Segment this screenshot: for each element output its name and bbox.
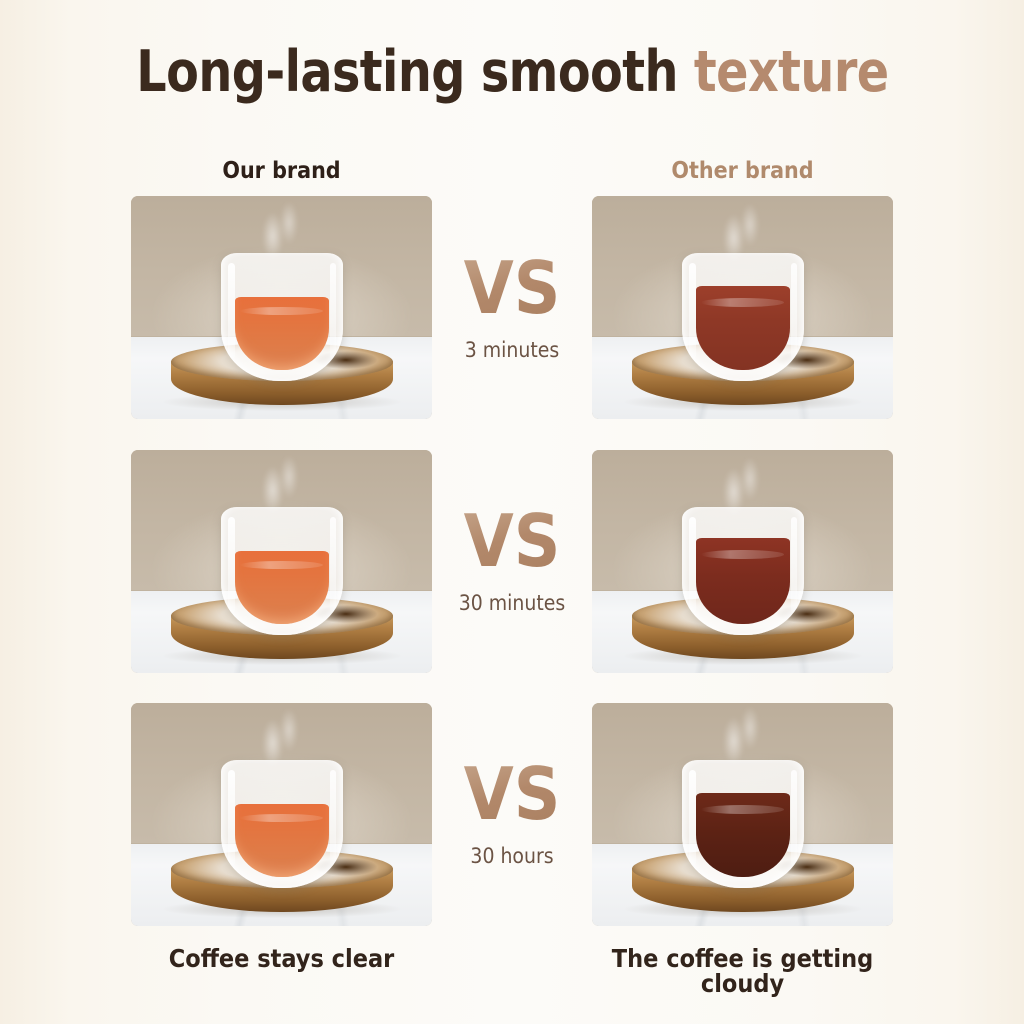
double-wall-glass: [682, 253, 804, 381]
vs-time-label: 30 minutes: [432, 593, 592, 614]
glass-highlight-left: [228, 770, 235, 866]
coffee-photo: [592, 703, 893, 926]
coffee-photo: [131, 450, 432, 673]
coffee-liquid: [235, 297, 329, 370]
caption-other-brand: The coffee is getting cloudy: [592, 946, 893, 996]
coffee-liquid: [696, 286, 790, 370]
steam-icon: [253, 454, 311, 514]
photo-our-brand-30-minutes: [131, 450, 432, 673]
coffee-photo: [131, 196, 432, 419]
steam-icon: [253, 200, 311, 260]
steam-icon: [714, 705, 772, 765]
column-header-other-brand: Other brand: [592, 160, 893, 183]
double-wall-glass: [682, 760, 804, 888]
glass-highlight-left: [689, 517, 696, 613]
photo-other-brand-30-minutes: [592, 450, 893, 673]
infographic-page: Long-lasting smooth texture Our brand Ot…: [0, 0, 1024, 1024]
glass-highlight-right: [791, 517, 797, 613]
vs-time-label: 30 hours: [432, 846, 592, 867]
coffee-liquid: [696, 538, 790, 624]
title-dark-text: Long-lasting smooth: [136, 39, 694, 105]
vs-separator-30-minutes: VS 30 minutes: [432, 505, 592, 614]
page-title: Long-lasting smooth texture: [0, 44, 1024, 101]
vs-separator-3-minutes: VS 3 minutes: [432, 252, 592, 361]
photo-other-brand-30-hours: [592, 703, 893, 926]
glass-highlight-left: [228, 517, 235, 613]
vs-label: VS: [432, 252, 592, 324]
glass-highlight-right: [330, 263, 336, 359]
caption-our-brand: Coffee stays clear: [131, 946, 432, 971]
glass-highlight-right: [330, 517, 336, 613]
coffee-photo: [592, 450, 893, 673]
glass-highlight-left: [228, 263, 235, 359]
photo-our-brand-30-hours: [131, 703, 432, 926]
vs-label: VS: [432, 505, 592, 577]
double-wall-glass: [682, 507, 804, 635]
photo-our-brand-3-minutes: [131, 196, 432, 419]
coffee-photo: [592, 196, 893, 419]
steam-icon: [253, 707, 311, 767]
glass-highlight-right: [791, 263, 797, 359]
title-accent-text: texture: [693, 39, 888, 105]
glass-highlight-left: [689, 770, 696, 866]
glass-highlight-right: [330, 770, 336, 866]
double-wall-glass: [221, 253, 343, 381]
coffee-photo: [131, 703, 432, 926]
photo-other-brand-3-minutes: [592, 196, 893, 419]
glass-highlight-left: [689, 263, 696, 359]
column-header-our-brand: Our brand: [131, 160, 432, 183]
coffee-liquid: [235, 551, 329, 624]
coffee-liquid: [696, 793, 790, 877]
vs-label: VS: [432, 758, 592, 830]
vs-time-label: 3 minutes: [432, 340, 592, 361]
double-wall-glass: [221, 507, 343, 635]
double-wall-glass: [221, 760, 343, 888]
coffee-liquid: [235, 804, 329, 877]
vs-separator-30-hours: VS 30 hours: [432, 758, 592, 867]
glass-highlight-right: [791, 770, 797, 866]
